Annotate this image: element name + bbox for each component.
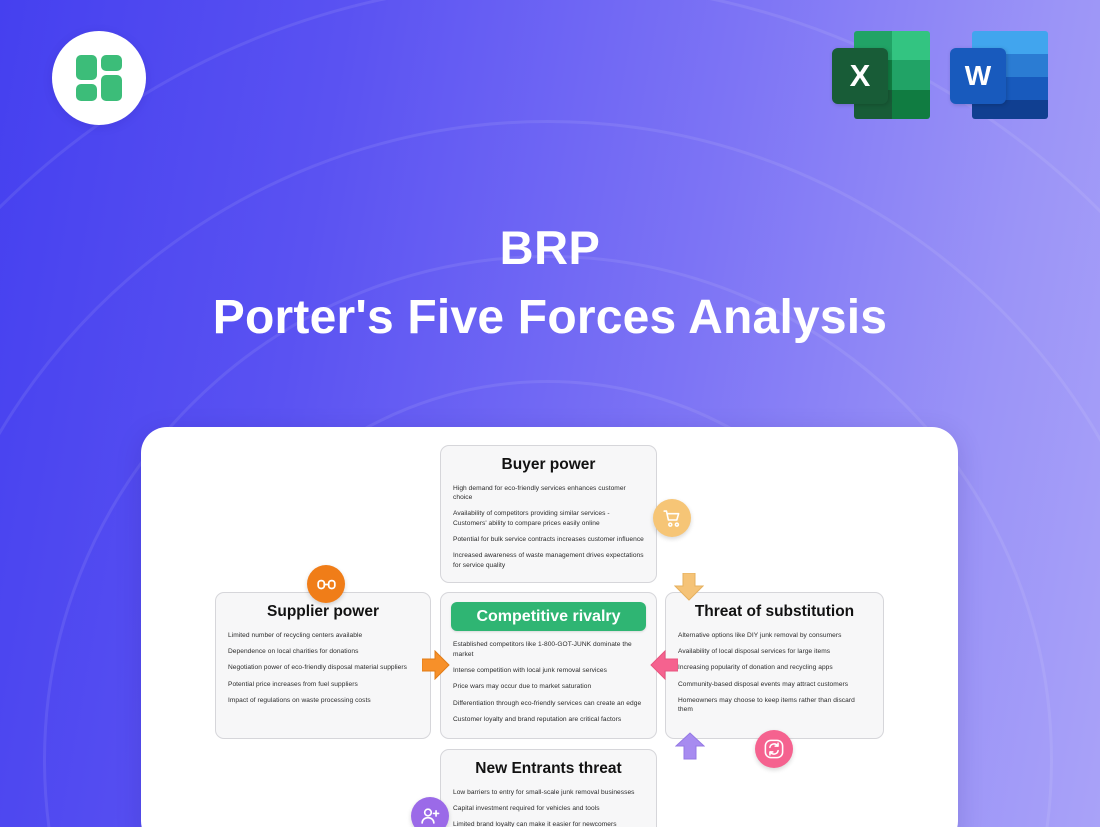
grid-tiles-logo-icon [76, 55, 122, 101]
force-box-threat-of-substitution[interactable]: Threat of substitution Alternative optio… [665, 592, 884, 739]
force-point: Impact of regulations on waste processin… [228, 696, 418, 705]
logo-tile [76, 84, 97, 101]
force-points-list: Alternative options like DIY junk remova… [678, 631, 871, 715]
refresh-sync-icon[interactable] [755, 730, 793, 768]
force-point: High demand for eco-friendly services en… [453, 484, 644, 503]
force-title: New Entrants threat [453, 760, 644, 779]
word-icon-letter: W [950, 48, 1006, 104]
force-point: Homeowners may choose to keep items rath… [678, 696, 871, 715]
force-points-list: Low barriers to entry for small-scale ju… [453, 788, 644, 827]
force-box-supplier-power[interactable]: Supplier power Limited number of recycli… [215, 592, 431, 739]
force-box-competitive-rivalry[interactable]: Competitive rivalry Established competit… [440, 592, 657, 739]
force-points-list: High demand for eco-friendly services en… [453, 484, 644, 571]
force-point: Established competitors like 1-800-GOT-J… [453, 640, 644, 659]
brand-logo[interactable] [52, 31, 146, 125]
force-point: Intense competition with local junk remo… [453, 666, 644, 675]
force-title: Supplier power [228, 603, 418, 622]
excel-icon-letter: X [832, 48, 888, 104]
force-point: Increasing popularity of donation and re… [678, 663, 871, 672]
force-point: Community-based disposal events may attr… [678, 680, 871, 689]
porters-five-forces-diagram: Buyer power High demand for eco-friendly… [141, 427, 958, 827]
word-icon[interactable]: W [950, 31, 1048, 119]
force-box-new-entrants-threat[interactable]: New Entrants threat Low barriers to entr… [440, 749, 657, 827]
logo-tile [76, 55, 97, 80]
force-point: Price wars may occur due to market satur… [453, 682, 644, 691]
logo-tile [101, 75, 122, 101]
force-title: Threat of substitution [678, 603, 871, 622]
arrow-right-icon [422, 650, 450, 680]
force-point: Potential for bulk service contracts inc… [453, 535, 644, 544]
force-point: Customer loyalty and brand reputation ar… [453, 715, 644, 724]
logo-tile [101, 55, 122, 71]
force-point: Negotiation power of eco-friendly dispos… [228, 663, 418, 672]
page-subtitle: Porter's Five Forces Analysis [0, 292, 1100, 345]
force-point: Increased awareness of waste management … [453, 551, 644, 570]
slide-canvas: X W BRP Porter's Five Forces Analysis Bu… [0, 0, 1100, 827]
add-user-icon[interactable] [411, 797, 449, 827]
shopping-cart-icon[interactable] [653, 499, 691, 537]
force-point: Differentiation through eco-friendly ser… [453, 699, 644, 708]
force-point: Limited brand loyalty can make it easier… [453, 820, 644, 827]
force-point: Low barriers to entry for small-scale ju… [453, 788, 644, 797]
force-title: Buyer power [453, 456, 644, 475]
header-titles: BRP Porter's Five Forces Analysis [0, 222, 1100, 344]
force-point: Limited number of recycling centers avai… [228, 631, 418, 640]
link-chain-icon[interactable] [307, 565, 345, 603]
arrow-down-icon [674, 573, 704, 601]
page-title: BRP [0, 222, 1100, 274]
arrow-up-icon [675, 732, 705, 760]
force-point: Availability of local disposal services … [678, 647, 871, 656]
force-point: Capital investment required for vehicles… [453, 804, 644, 813]
diagram-card: Buyer power High demand for eco-friendly… [141, 427, 958, 827]
excel-icon[interactable]: X [832, 31, 930, 119]
force-point: Potential price increases from fuel supp… [228, 680, 418, 689]
force-title: Competitive rivalry [451, 602, 646, 631]
arrow-left-icon [650, 650, 678, 680]
force-point: Alternative options like DIY junk remova… [678, 631, 871, 640]
force-points-list: Established competitors like 1-800-GOT-J… [453, 640, 644, 724]
force-point: Dependence on local charities for donati… [228, 647, 418, 656]
office-export-icons: X W [832, 31, 1048, 119]
force-points-list: Limited number of recycling centers avai… [228, 631, 418, 706]
force-box-buyer-power[interactable]: Buyer power High demand for eco-friendly… [440, 445, 657, 583]
force-point: Availability of competitors providing si… [453, 509, 644, 528]
